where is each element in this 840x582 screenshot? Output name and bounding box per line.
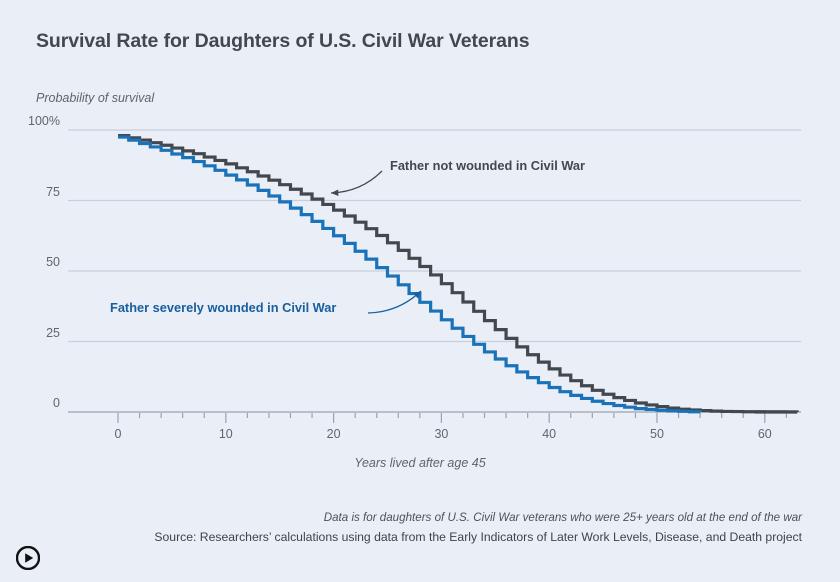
x-tick-label: 0 [98, 427, 138, 441]
x-tick-label: 20 [314, 427, 354, 441]
annotation-arrowhead-not-wounded [331, 190, 338, 197]
y-tick-label: 100% [0, 114, 60, 128]
series-lines [118, 136, 797, 412]
x-axis-label: Years lived after age 45 [0, 456, 840, 470]
annotation-label-severely-wounded: Father severely wounded in Civil War [110, 300, 336, 315]
footer-source: Source: Researchers’ calculations using … [154, 530, 802, 544]
series-line [118, 136, 797, 412]
y-tick-label: 50 [0, 255, 60, 269]
plot-area [0, 0, 840, 582]
x-axis-ticks [118, 413, 786, 423]
x-tick-label: 50 [637, 427, 677, 441]
x-tick-label: 30 [421, 427, 461, 441]
y-tick-label: 75 [0, 185, 60, 199]
y-tick-label: 0 [0, 396, 60, 410]
annotation-label-not-wounded: Father not wounded in Civil War [390, 158, 585, 173]
series-line [118, 137, 700, 412]
x-tick-label: 60 [745, 427, 785, 441]
y-tick-label: 25 [0, 326, 60, 340]
chart-page: Survival Rate for Daughters of U.S. Civi… [0, 0, 840, 582]
x-tick-label: 10 [206, 427, 246, 441]
play-button-icon[interactable] [16, 546, 40, 570]
annotation-arrow-not-wounded [331, 171, 382, 193]
x-tick-label: 40 [529, 427, 569, 441]
footer-note: Data is for daughters of U.S. Civil War … [324, 511, 802, 524]
